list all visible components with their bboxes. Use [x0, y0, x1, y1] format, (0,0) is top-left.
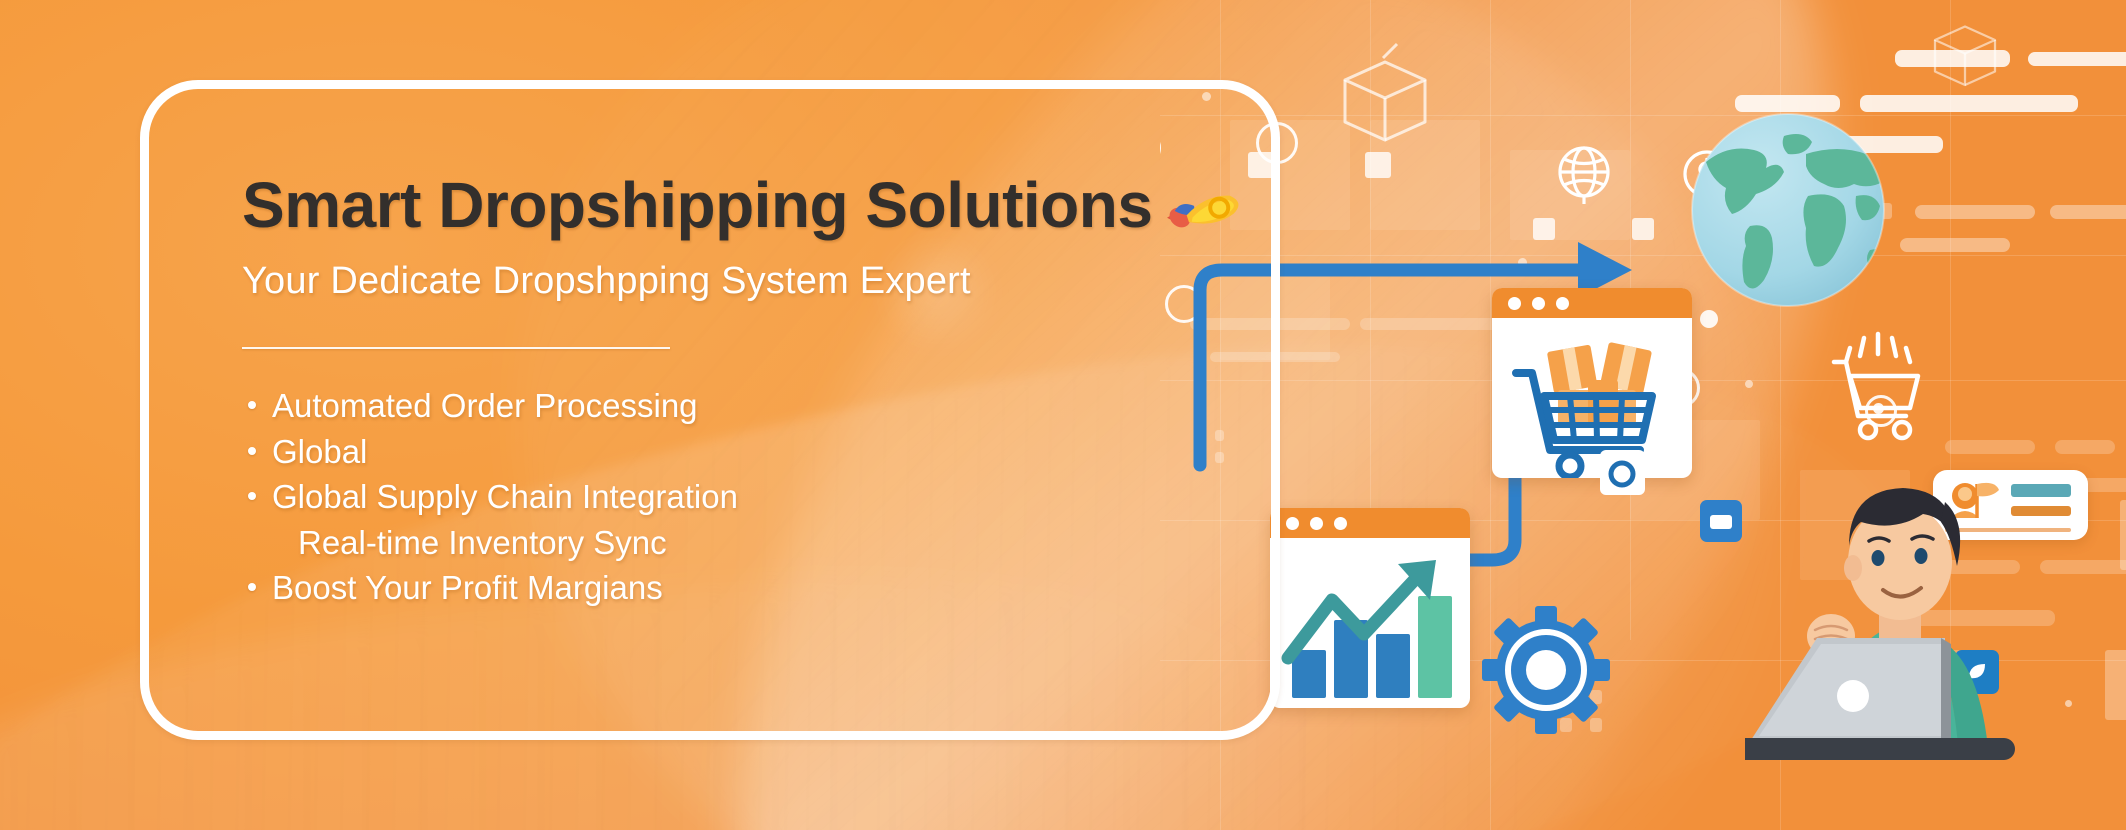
target-tile-icon: [1600, 450, 1645, 495]
shopping-cart-illustration: [1492, 318, 1692, 478]
folder-tile-icon: [1700, 500, 1742, 542]
chart-window-dot-3: [1334, 517, 1347, 530]
list-item: Global Supply Chain Integration: [242, 474, 1252, 520]
chart-window-dot-2: [1310, 517, 1323, 530]
growth-bar-chart: [1270, 538, 1470, 708]
page-subtitle: Your Dedicate Dropshpping System Expert: [242, 260, 1252, 303]
chart-window-dot-1: [1286, 517, 1299, 530]
divider: [242, 347, 670, 349]
window-dot-3: [1556, 297, 1569, 310]
page-title-text: Smart Dropshipping Solutions: [242, 168, 1152, 242]
list-item: Global: [242, 429, 1252, 475]
headline-block: Smart Dropshipping Solutions Your Ded: [242, 168, 1252, 611]
list-item: Boost Your Profit Margians: [242, 565, 1252, 611]
window-dot-1: [1508, 297, 1521, 310]
rocket-icon: [1166, 172, 1240, 246]
chart-window-titlebar: [1270, 508, 1470, 538]
ecommerce-store-window: [1492, 288, 1692, 478]
world-globe: [1688, 110, 1888, 310]
list-item: Real-time Inventory Sync: [242, 520, 1252, 566]
shopping-cart-outline-icon: [1818, 330, 1938, 450]
window-titlebar: [1492, 288, 1692, 318]
marketing-banner: Smart Dropshipping Solutions Your Ded: [0, 0, 2126, 830]
feature-list: Automated Order Processing Global Global…: [242, 383, 1252, 611]
analytics-growth-window: [1270, 508, 1470, 708]
window-dot-2: [1532, 297, 1545, 310]
page-title: Smart Dropshipping Solutions: [242, 168, 1252, 242]
person-at-laptop: [1745, 440, 2045, 760]
list-item: Automated Order Processing: [242, 383, 1252, 429]
settings-gear-icon: [1476, 600, 1616, 740]
